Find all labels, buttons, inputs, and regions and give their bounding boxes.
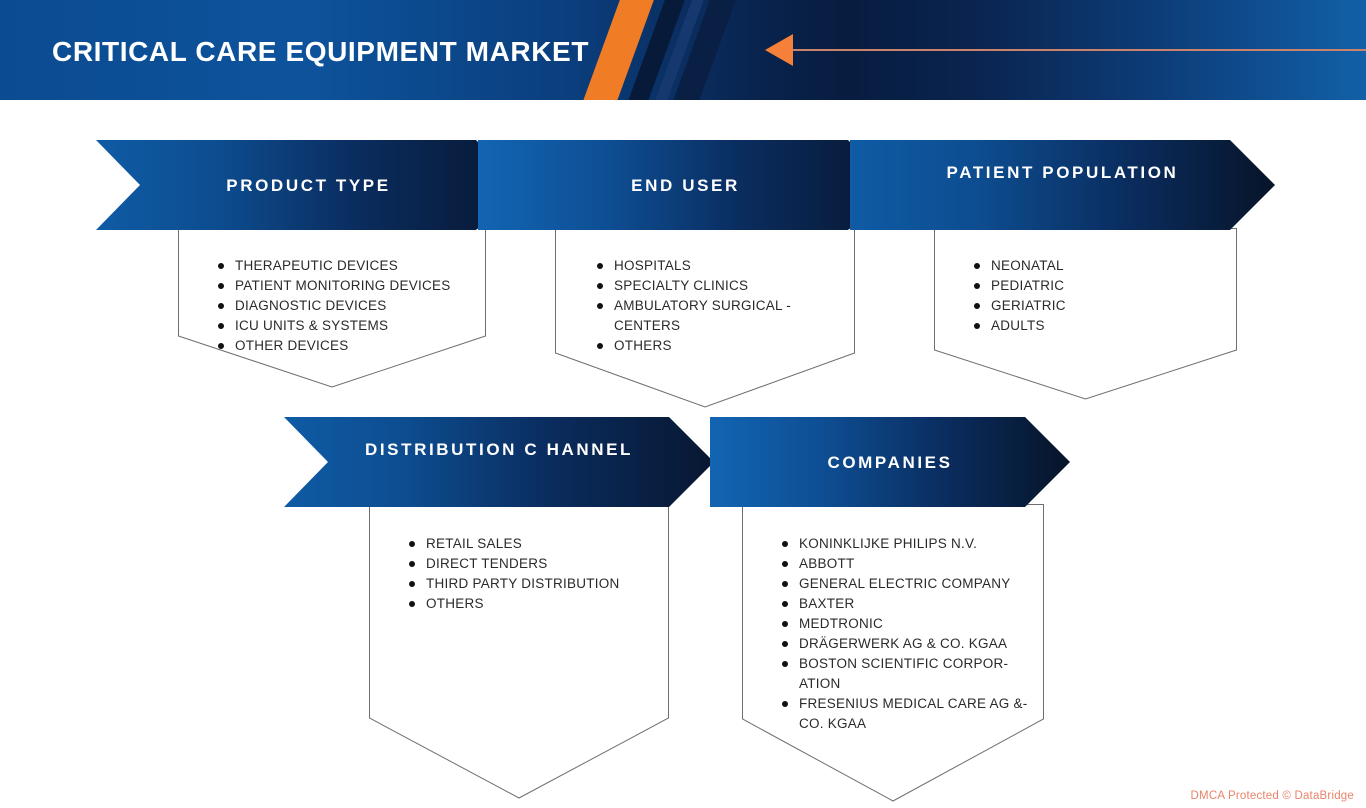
list-item: GENERAL ELECTRIC COMPANY: [782, 574, 1032, 594]
bullet-icon: [974, 303, 980, 309]
bullet-icon: [974, 283, 980, 289]
list-product-type: THERAPEUTIC DEVICES PATIENT MONITORING D…: [218, 256, 451, 356]
list-companies: KONINKLIJKE PHILIPS N.V. ABBOTT GENERAL …: [782, 534, 1032, 734]
dmca-credit: DMCA Protected © DataBridge: [1191, 790, 1354, 802]
list-item: DIRECT TENDERS: [409, 554, 620, 574]
list-item: DRÄGERWERK AG & CO. KGAA: [782, 634, 1032, 654]
bullet-icon: [218, 343, 224, 349]
panel-patient-population: NEONATAL PEDIATRIC GERIATRIC ADULTS: [934, 228, 1237, 400]
bullet-icon: [597, 343, 603, 349]
list-item: BAXTER: [782, 594, 1032, 614]
bullet-icon: [782, 561, 788, 567]
list-item: BOSTON SCIENTIFIC CORPOR-ATION: [782, 654, 1032, 694]
bullet-icon: [218, 323, 224, 329]
bullet-icon: [597, 263, 603, 269]
panel-end-user: HOSPITALS SPECIALTY CLINICS AMBULATORY S…: [555, 228, 855, 408]
bullet-icon: [782, 621, 788, 627]
list-item: GERIATRIC: [974, 296, 1066, 316]
bullet-icon: [974, 323, 980, 329]
bullet-icon: [597, 283, 603, 289]
list-item: FRESENIUS MEDICAL CARE AG &-CO. KGAA: [782, 694, 1032, 734]
bullet-icon: [218, 303, 224, 309]
list-item: DIAGNOSTIC DEVICES: [218, 296, 451, 316]
bullet-icon: [782, 581, 788, 587]
list-item: ABBOTT: [782, 554, 1032, 574]
list-item: OTHER DEVICES: [218, 336, 451, 356]
list-item: MEDTRONIC: [782, 614, 1032, 634]
bullet-icon: [782, 701, 788, 707]
list-distribution-channel: RETAIL SALES DIRECT TENDERS THIRD PARTY …: [409, 534, 620, 614]
list-item: HOSPITALS: [597, 256, 812, 276]
list-item: ICU UNITS & SYSTEMS: [218, 316, 451, 336]
bullet-icon: [409, 561, 415, 567]
panel-distribution-channel: RETAIL SALES DIRECT TENDERS THIRD PARTY …: [369, 504, 669, 804]
bullet-icon: [782, 661, 788, 667]
list-end-user: HOSPITALS SPECIALTY CLINICS AMBULATORY S…: [597, 256, 812, 356]
bullet-icon: [218, 283, 224, 289]
banner-patient-population[interactable]: PATIENT POPULATION: [850, 140, 1275, 230]
left-arrow-icon: [765, 34, 793, 66]
panel-companies: KONINKLIJKE PHILIPS N.V. ABBOTT GENERAL …: [742, 504, 1044, 808]
header-banner: CRITICAL CARE EQUIPMENT MARKET: [0, 0, 1366, 100]
bullet-icon: [597, 303, 603, 309]
banner-distribution-channel[interactable]: DISTRIBUTION C HANNEL: [284, 417, 714, 507]
bullet-icon: [409, 581, 415, 587]
list-item: NEONATAL: [974, 256, 1066, 276]
bullet-icon: [409, 541, 415, 547]
header-accent-line: [792, 49, 1366, 51]
bullet-icon: [218, 263, 224, 269]
infographic-canvas: CRITICAL CARE EQUIPMENT MARKET THERAPEUT…: [0, 0, 1366, 808]
list-item: SPECIALTY CLINICS: [597, 276, 812, 296]
list-patient-population: NEONATAL PEDIATRIC GERIATRIC ADULTS: [974, 256, 1066, 336]
list-item: AMBULATORY SURGICAL -CENTERS: [597, 296, 812, 336]
bullet-icon: [782, 541, 788, 547]
bullet-icon: [782, 601, 788, 607]
list-item: OTHERS: [597, 336, 812, 356]
bullet-icon: [974, 263, 980, 269]
list-item: RETAIL SALES: [409, 534, 620, 554]
list-item: KONINKLIJKE PHILIPS N.V.: [782, 534, 1032, 554]
list-item: THIRD PARTY DISTRIBUTION: [409, 574, 620, 594]
bullet-icon: [782, 641, 788, 647]
panel-product-type: THERAPEUTIC DEVICES PATIENT MONITORING D…: [178, 228, 486, 388]
banner-companies[interactable]: COMPANIES: [710, 417, 1070, 507]
list-item: OTHERS: [409, 594, 620, 614]
list-item: PATIENT MONITORING DEVICES: [218, 276, 451, 296]
list-item: PEDIATRIC: [974, 276, 1066, 296]
page-title: CRITICAL CARE EQUIPMENT MARKET: [52, 36, 589, 68]
banner-product-type[interactable]: PRODUCT TYPE: [96, 140, 521, 230]
bullet-icon: [409, 601, 415, 607]
list-item: ADULTS: [974, 316, 1066, 336]
list-item: THERAPEUTIC DEVICES: [218, 256, 451, 276]
banner-end-user[interactable]: END USER: [478, 140, 893, 230]
